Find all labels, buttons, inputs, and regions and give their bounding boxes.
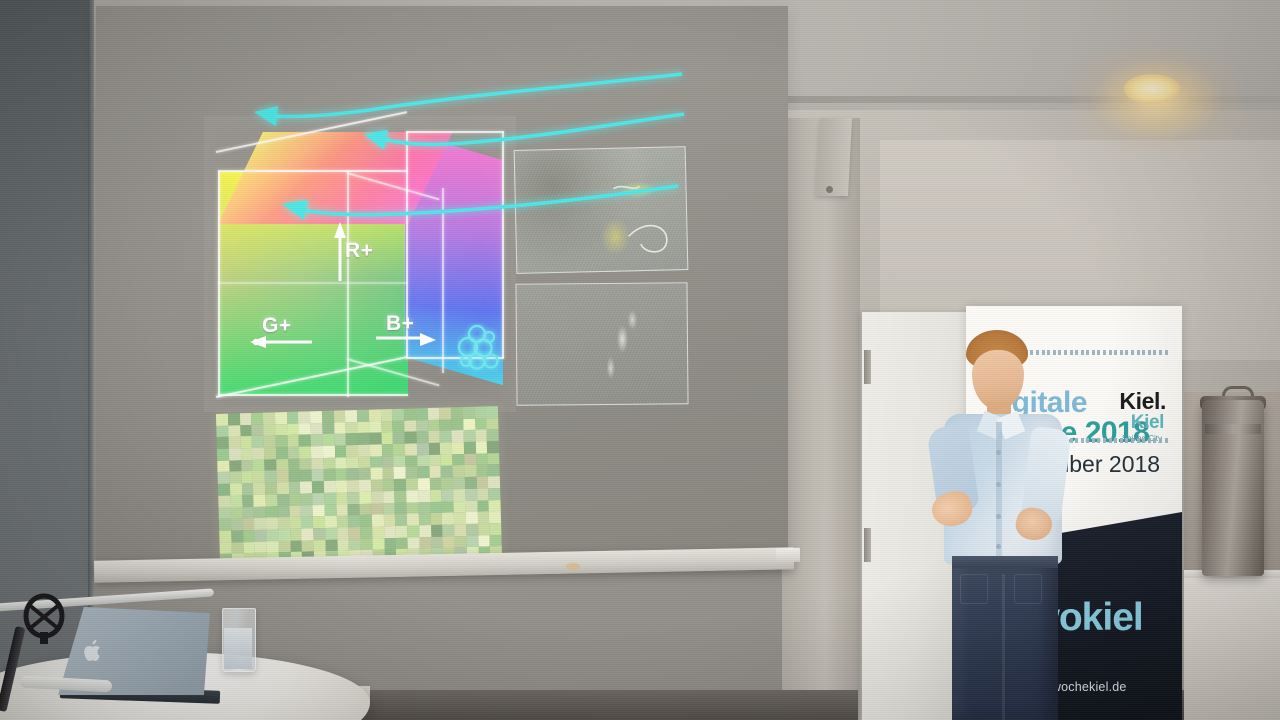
mosaic-pixel — [441, 466, 453, 478]
mosaic-pixel — [478, 535, 490, 547]
mosaic-pixel — [322, 411, 334, 423]
mosaic-pixel — [228, 437, 240, 449]
mosaic-pixel — [463, 407, 475, 419]
mosaic-pixel — [417, 455, 429, 467]
mosaic-pixel — [431, 525, 443, 537]
mosaic-pixel — [360, 515, 372, 527]
mosaic-pixel — [345, 422, 357, 434]
mosaic-pixel — [240, 448, 252, 460]
mosaic-pixel — [242, 506, 254, 518]
mosaic-pixel — [310, 423, 322, 435]
micrograph-annotation-squiggle — [515, 147, 688, 273]
mosaic-pixel — [452, 442, 464, 454]
mosaic-pixel — [216, 414, 228, 426]
mosaic-pixel — [324, 504, 336, 516]
mosaic-pixel — [405, 443, 417, 455]
mosaic-pixel — [229, 448, 241, 460]
speaker-jeans-seam — [1002, 574, 1005, 720]
mosaic-pixel — [359, 492, 371, 504]
mosaic-pixel — [430, 513, 442, 525]
mosaic-pixel — [231, 542, 243, 554]
mosaic-pixel — [324, 492, 336, 504]
mosaic-pixel — [474, 406, 486, 418]
mosaic-pixel — [428, 419, 440, 431]
mosaic-pixel — [263, 412, 275, 424]
door-hinge-icon — [864, 528, 871, 562]
mosaic-pixel — [416, 408, 428, 420]
mosaic-pixel — [475, 418, 487, 430]
mosaic-pixel — [452, 466, 464, 478]
mosaic-pixel — [372, 515, 384, 527]
cube-axis-label-g: G+ — [262, 314, 292, 338]
mosaic-pixel — [441, 489, 453, 501]
mosaic-pixel — [439, 419, 451, 431]
mosaic-pixel — [335, 469, 347, 481]
mosaic-pixel — [276, 470, 288, 482]
mosaic-pixel — [463, 430, 475, 442]
mosaic-pixel — [254, 518, 266, 530]
mosaic-pixel — [349, 539, 361, 551]
mosaic-pixel — [429, 454, 441, 466]
mosaic-pixel — [383, 503, 395, 515]
mosaic-pixel — [439, 407, 451, 419]
mosaic-pixel — [264, 459, 276, 471]
mosaic-pixel — [371, 503, 383, 515]
mosaic-pixel — [312, 481, 324, 493]
mosaic-pixel — [429, 466, 441, 478]
mosaic-pixel — [454, 536, 466, 548]
mosaic-pixel — [454, 512, 466, 524]
mosaic-pixel — [288, 482, 300, 494]
mosaic-pixel — [348, 515, 360, 527]
mosaic-pixel — [443, 536, 455, 548]
mosaic-pixel — [487, 453, 499, 465]
mosaic-pixel — [217, 437, 229, 449]
mosaic-pixel — [406, 479, 418, 491]
mosaic-pixel — [299, 458, 311, 470]
micrograph-image-top — [514, 146, 689, 274]
mosaic-pixel — [231, 518, 243, 530]
mosaic-pixel — [324, 481, 336, 493]
mosaic-pixel — [394, 467, 406, 479]
mosaic-pixel — [253, 471, 265, 483]
ceiling-spotlight-icon — [1124, 74, 1180, 104]
mosaic-pixel — [300, 493, 312, 505]
mosaic-pixel — [229, 472, 241, 484]
mosaic-pixel — [288, 470, 300, 482]
mosaic-pixel — [454, 524, 466, 536]
mosaic-pixel — [393, 444, 405, 456]
mosaic-pixel — [464, 453, 476, 465]
mosaic-pixel — [218, 472, 230, 484]
door-hinge-icon — [864, 350, 871, 384]
mosaic-pixel — [335, 480, 347, 492]
mosaic-pixel — [348, 504, 360, 516]
cube-edge — [406, 131, 504, 133]
mosaic-pixel — [392, 409, 404, 421]
mosaic-pixel — [369, 433, 381, 445]
cube-axis-line — [218, 282, 408, 284]
mosaic-pixel — [252, 459, 264, 471]
mosaic-pixel — [466, 524, 478, 536]
mosaic-pixel — [313, 540, 325, 552]
mosaic-pixel — [465, 500, 477, 512]
mosaic-pixel — [288, 458, 300, 470]
mosaic-pixel — [381, 444, 393, 456]
mosaic-pixel — [301, 505, 313, 517]
micrograph-image-bottom — [515, 282, 688, 405]
mosaic-pixel — [451, 430, 463, 442]
pixelated-mosaic-image — [216, 406, 502, 566]
mosaic-pixel — [289, 517, 301, 529]
mosaic-pixel — [241, 471, 253, 483]
mosaic-pixel — [396, 537, 408, 549]
mosaic-pixel — [265, 471, 277, 483]
mosaic-pixel — [488, 488, 500, 500]
mosaic-pixel — [382, 467, 394, 479]
cube-edge — [218, 170, 408, 172]
mosaic-pixel — [275, 424, 287, 436]
mosaic-pixel — [429, 478, 441, 490]
mosaic-pixel — [266, 506, 278, 518]
mosaic-pixel — [369, 409, 381, 421]
mosaic-pixel — [372, 526, 384, 538]
mosaic-pixel — [464, 465, 476, 477]
mosaic-pixel — [337, 527, 349, 539]
mosaic-pixel — [334, 445, 346, 457]
mosaic-pixel — [253, 483, 265, 495]
mosaic-pixel — [405, 432, 417, 444]
mosaic-pixel — [465, 489, 477, 501]
mosaic-pixel — [370, 444, 382, 456]
mosaic-pixel — [395, 502, 407, 514]
mosaic-pixel — [241, 483, 253, 495]
mosaic-pixel — [440, 454, 452, 466]
mosaic-pixel — [383, 514, 395, 526]
mosaic-pixel — [334, 434, 346, 446]
mosaic-pixel — [301, 517, 313, 529]
mosaic-pixel — [357, 410, 369, 422]
speaker-belt — [952, 556, 1058, 568]
banner-city-logo-sub: Kiel — [1131, 412, 1164, 434]
mosaic-pixel — [477, 512, 489, 524]
mosaic-pixel — [407, 514, 419, 526]
cube-axis-label-r: R+ — [345, 239, 373, 263]
mosaic-pixel — [346, 433, 358, 445]
mosaic-pixel — [430, 501, 442, 513]
mosaic-pixel — [312, 469, 324, 481]
mosaic-pixel — [477, 488, 489, 500]
mosaic-pixel — [299, 446, 311, 458]
mosaic-pixel — [489, 511, 501, 523]
mosaic-pixel — [278, 517, 290, 529]
rgb-colour-cube: R+ G+ B+ — [214, 126, 506, 402]
mosaic-pixel — [441, 478, 453, 490]
mosaic-pixel — [392, 420, 404, 432]
projector-screen-reflection — [566, 563, 580, 570]
mosaic-pixel — [289, 493, 301, 505]
mosaic-pixel — [216, 425, 228, 437]
cube-axis-line — [347, 171, 349, 397]
mosaic-pixel — [440, 442, 452, 454]
mosaic-pixel — [453, 489, 465, 501]
mosaic-pixel — [323, 469, 335, 481]
projector-screen-bracket-pin — [826, 186, 833, 193]
mosaic-pixel — [395, 514, 407, 526]
mosaic-pixel — [371, 491, 383, 503]
mosaic-pixel — [312, 493, 324, 505]
mosaic-pixel — [287, 435, 299, 447]
mosaic-pixel — [253, 494, 265, 506]
mosaic-pixel — [453, 477, 465, 489]
mosaic-pixel — [300, 470, 312, 482]
mosaic-pixel — [348, 527, 360, 539]
mosaic-pixel — [243, 542, 255, 554]
mosaic-pixel — [310, 411, 322, 423]
mosaic-pixel — [289, 505, 301, 517]
mosaic-pixel — [476, 477, 488, 489]
mosaic-pixel — [489, 500, 501, 512]
speaker-shirt-button — [996, 514, 1001, 519]
projector-screen-bar-cap — [776, 548, 800, 562]
speaker-jeans-pocket — [960, 574, 988, 604]
mosaic-pixel — [220, 542, 232, 554]
mosaic-pixel — [451, 419, 463, 431]
mosaic-pixel — [358, 445, 370, 457]
mosaic-pixel — [254, 530, 266, 542]
mosaic-pixel — [252, 448, 264, 460]
mosaic-pixel — [466, 535, 478, 547]
mosaic-pixel — [487, 429, 499, 441]
mosaic-pixel — [228, 413, 240, 425]
mosaic-pixel — [360, 538, 372, 550]
cube-edge — [218, 394, 408, 396]
mosaic-pixel — [466, 512, 478, 524]
mosaic-pixel — [394, 491, 406, 503]
mosaic-pixel — [419, 537, 431, 549]
mosaic-pixel — [384, 538, 396, 550]
mosaic-pixel — [359, 503, 371, 515]
mosaic-pixel — [333, 410, 345, 422]
mosaic-pixel — [217, 460, 229, 472]
mosaic-pixel — [428, 431, 440, 443]
mosaic-pixel — [322, 422, 334, 434]
mosaic-pixel — [372, 538, 384, 550]
mosaic-pixel — [405, 467, 417, 479]
projector-screen-bracket — [816, 118, 852, 196]
cube-axis-label-b: B+ — [386, 312, 414, 336]
speaker-face — [972, 350, 1024, 410]
mosaic-pixel — [463, 418, 475, 430]
mosaic-pixel — [278, 541, 290, 553]
mosaic-pixel — [243, 530, 255, 542]
ceiling-edge — [770, 96, 1280, 103]
mosaic-pixel — [218, 484, 230, 496]
mosaic-pixel — [334, 422, 346, 434]
mosaic-pixel — [251, 424, 263, 436]
mosaic-pixel — [358, 433, 370, 445]
mosaic-pixel — [265, 482, 277, 494]
mosaic-pixel — [267, 541, 279, 553]
mosaic-pixel — [489, 523, 501, 535]
mosaic-pixel — [384, 526, 396, 538]
mosaic-pixel — [417, 466, 429, 478]
mosaic-pixel — [264, 436, 276, 448]
speaker-shirt-button — [996, 544, 1001, 549]
conference-room-photo: R+ G+ B+ — [0, 0, 1280, 720]
mosaic-pixel — [442, 524, 454, 536]
mosaic-pixel — [277, 505, 289, 517]
mosaic-pixel — [313, 505, 325, 517]
mosaic-pixel — [335, 457, 347, 469]
micrograph-grain — [516, 283, 687, 404]
mosaic-pixel — [231, 530, 243, 542]
mosaic-pixel — [242, 495, 254, 507]
mosaic-pixel — [254, 506, 266, 518]
mosaic-pixel — [406, 502, 418, 514]
mosaic-pixel — [298, 423, 310, 435]
water-glass-content — [224, 628, 252, 669]
mosaic-pixel — [358, 456, 370, 468]
mosaic-pixel — [418, 478, 430, 490]
mosaic-pixel — [419, 513, 431, 525]
mosaic-pixel — [286, 412, 298, 424]
mosaic-pixel — [325, 528, 337, 540]
mosaic-pixel — [252, 436, 264, 448]
coffee-urn-band — [1205, 424, 1261, 434]
mosaic-pixel — [230, 483, 242, 495]
cluster-marker-icon — [457, 323, 515, 385]
mosaic-pixel — [251, 413, 263, 425]
mosaic-pixel — [264, 447, 276, 459]
mosaic-pixel — [475, 430, 487, 442]
mosaic-pixel — [382, 479, 394, 491]
mosaic-pixel — [418, 490, 430, 502]
mosaic-pixel — [265, 494, 277, 506]
banner-city-logo: Kiel. — [1119, 388, 1166, 415]
mosaic-pixel — [255, 541, 267, 553]
mosaic-pixel — [431, 536, 443, 548]
microphone-shock-mount-icon[interactable] — [22, 592, 66, 644]
mosaic-pixel — [311, 446, 323, 458]
mosaic-pixel — [442, 513, 454, 525]
mosaic-pixel — [347, 492, 359, 504]
mosaic-pixel — [369, 421, 381, 433]
mosaic-pixel — [290, 540, 302, 552]
mosaic-pixel — [465, 477, 477, 489]
mosaic-pixel — [337, 539, 349, 551]
mosaic-pixel — [229, 460, 241, 472]
mosaic-pixel — [322, 434, 334, 446]
mosaic-pixel — [393, 432, 405, 444]
mosaic-pixel — [276, 459, 288, 471]
apple-logo-icon — [84, 640, 103, 662]
mosaic-pixel — [311, 434, 323, 446]
mosaic-pixel — [476, 453, 488, 465]
mosaic-pixel — [217, 449, 229, 461]
mosaic-pixel — [407, 525, 419, 537]
mosaic-pixel — [336, 492, 348, 504]
mosaic-pixel — [299, 435, 311, 447]
mosaic-pixel — [359, 468, 371, 480]
mosaic-pixel — [346, 445, 358, 457]
mosaic-pixel — [313, 528, 325, 540]
mosaic-pixel — [381, 421, 393, 433]
mosaic-pixel — [276, 447, 288, 459]
mosaic-pixel — [486, 418, 498, 430]
speaker-shirt-button — [996, 450, 1001, 455]
mosaic-pixel — [346, 457, 358, 469]
mosaic-pixel — [325, 516, 337, 528]
mosaic-pixel — [313, 516, 325, 528]
mosaic-pixel — [442, 501, 454, 513]
right-side-table — [1184, 572, 1280, 720]
mosaic-pixel — [381, 432, 393, 444]
mosaic-pixel — [453, 501, 465, 513]
mosaic-pixel — [311, 458, 323, 470]
mosaic-pixel — [239, 413, 251, 425]
mosaic-pixel — [345, 410, 357, 422]
mosaic-pixel — [477, 500, 489, 512]
mosaic-pixel — [242, 518, 254, 530]
mosaic-pixel — [263, 424, 275, 436]
mosaic-pixel — [405, 455, 417, 467]
mosaic-pixel — [440, 431, 452, 443]
mosaic-pixel — [383, 491, 395, 503]
mosaic-pixel — [323, 446, 335, 458]
mosaic-pixel — [287, 423, 299, 435]
mosaic-pixel — [301, 528, 313, 540]
right-wall-column — [782, 118, 860, 720]
mosaic-pixel — [287, 447, 299, 459]
mosaic-pixel — [325, 539, 337, 551]
mosaic-pixel — [218, 495, 230, 507]
mosaic-pixel — [478, 523, 490, 535]
mosaic-pixel — [266, 529, 278, 541]
mosaic-pixel — [347, 480, 359, 492]
speaker-shirt-button — [996, 482, 1001, 487]
mosaic-pixel — [359, 480, 371, 492]
mosaic-pixel — [370, 468, 382, 480]
mosaic-pixel — [451, 407, 463, 419]
mosaic-pixel — [357, 421, 369, 433]
cube-edge — [218, 171, 220, 397]
mosaic-pixel — [416, 431, 428, 443]
cube-axis-line — [442, 188, 444, 373]
mosaic-pixel — [419, 525, 431, 537]
mosaic-pixel — [416, 420, 428, 432]
mosaic-pixel — [275, 435, 287, 447]
mosaic-pixel — [428, 443, 440, 455]
mosaic-pixel — [417, 443, 429, 455]
mosaic-pixel — [487, 441, 499, 453]
mosaic-pixel — [277, 482, 289, 494]
mosaic-pixel — [427, 408, 439, 420]
speaker-shirt-placket — [996, 422, 1002, 562]
mosaic-pixel — [323, 457, 335, 469]
mosaic-pixel — [336, 504, 348, 516]
mosaic-pixel — [266, 518, 278, 530]
mosaic-pixel — [371, 479, 383, 491]
mosaic-pixel — [347, 468, 359, 480]
mosaic-pixel — [430, 490, 442, 502]
mosaic-pixel — [404, 408, 416, 420]
mosaic-pixel — [395, 526, 407, 538]
mosaic-pixel — [336, 516, 348, 528]
mosaic-pixel — [228, 425, 240, 437]
speaker-person — [930, 330, 1080, 720]
mosaic-pixel — [488, 476, 500, 488]
